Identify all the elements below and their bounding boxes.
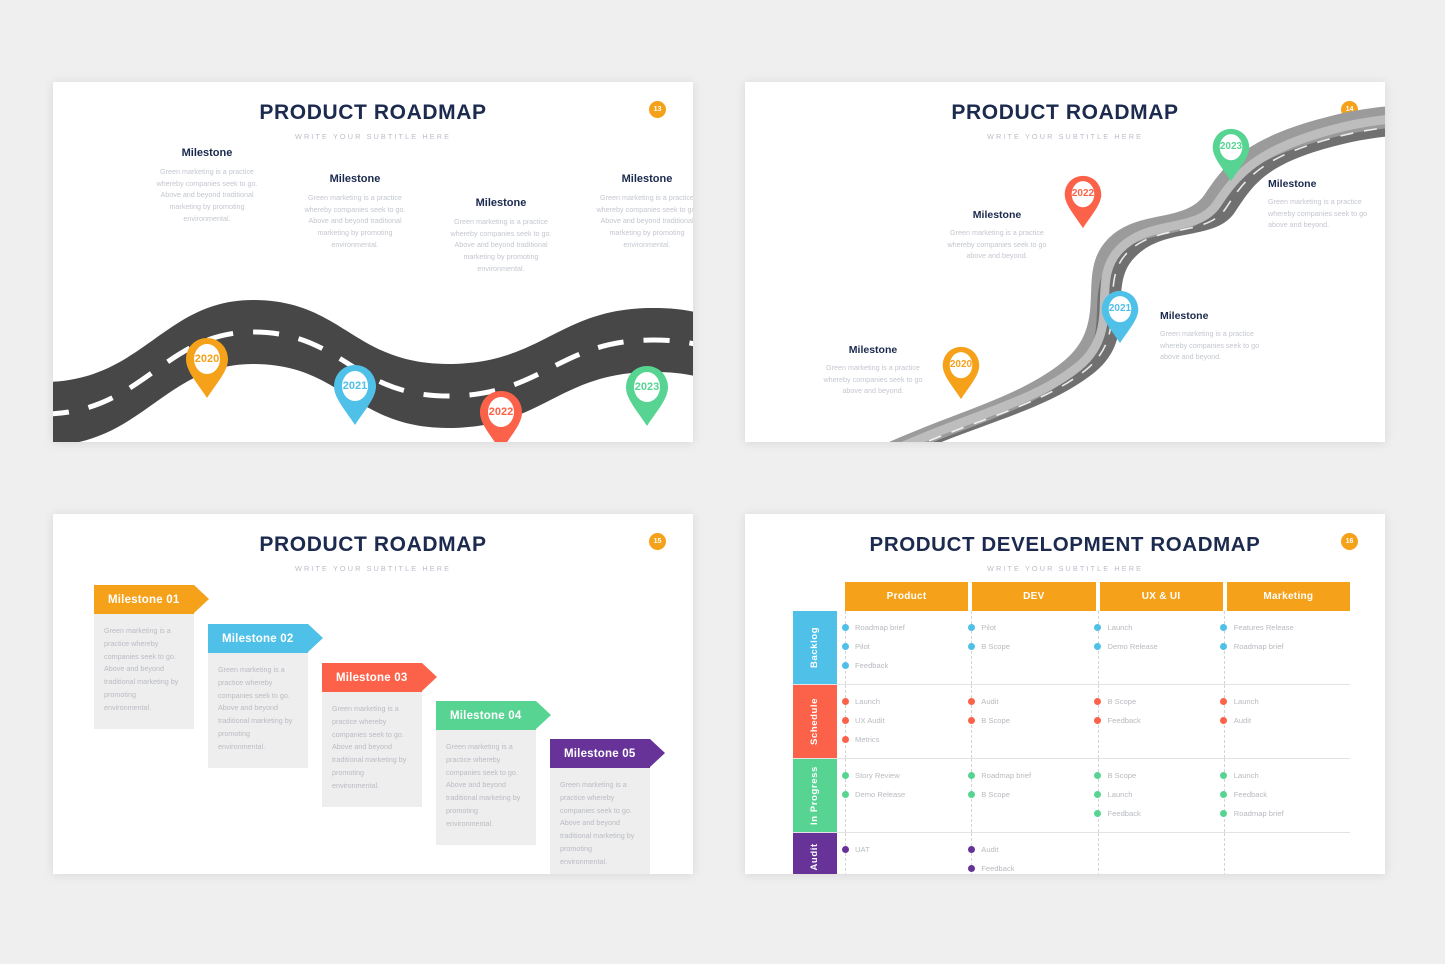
- table-cell: PilotB Scope: [971, 611, 1097, 684]
- milestone-heading: Milestone: [295, 173, 415, 185]
- table-cell: AuditB Scope: [971, 685, 1097, 758]
- table-column-header: Marketing: [1227, 582, 1350, 611]
- table-cell-item[interactable]: Roadmap brief: [1224, 637, 1350, 656]
- page-number-badge: 16: [1341, 533, 1358, 550]
- table-cell-text: Launch: [1108, 790, 1133, 799]
- milestone-body: Green marketing is a practice whereby co…: [441, 216, 561, 274]
- milestone-label: Milestone 01: [108, 594, 179, 606]
- table-cell-text: Features Release: [1234, 623, 1294, 632]
- table-cell-text: Roadmap brief: [981, 771, 1031, 780]
- bullet-dot-icon: [968, 643, 975, 650]
- table-cell-text: B Scope: [981, 716, 1010, 725]
- milestone-heading: Milestone: [587, 173, 693, 185]
- table-cell: LaunchDemo Release: [1098, 611, 1224, 684]
- bullet-dot-icon: [1094, 624, 1101, 631]
- table-cell-item[interactable]: Demo Release: [845, 785, 971, 804]
- milestone-label: Milestone 05: [564, 748, 635, 760]
- table-cell-text: Feedback: [981, 864, 1014, 873]
- bullet-dot-icon: [968, 698, 975, 705]
- table-row: QA / AuditUATAuditFeedbackB Scope: [793, 833, 1350, 874]
- table-cell-item[interactable]: B Scope: [1098, 692, 1224, 711]
- table-cell-text: Audit: [981, 697, 998, 706]
- table-cell: B ScopeLaunchFeedback: [1098, 759, 1224, 832]
- table-cell-text: Launch: [1108, 623, 1133, 632]
- milestone-body: Green marketing is a practice whereby co…: [943, 227, 1051, 262]
- milestone-arrow-label-wrap[interactable]: Milestone 05: [550, 739, 650, 768]
- milestone-heading: Milestone: [1160, 310, 1268, 322]
- table-cell: Features ReleaseRoadmap brief: [1224, 611, 1350, 684]
- bullet-dot-icon: [1094, 698, 1101, 705]
- bullet-dot-icon: [842, 772, 849, 779]
- table-cell-text: Roadmap brief: [1234, 809, 1284, 818]
- table-body: BacklogRoadmap briefPilotFeedbackPilotB …: [793, 611, 1350, 874]
- slide-product-roadmap-winding[interactable]: PRODUCT ROADMAP WRITE YOUR SUBTITLE HERE…: [745, 82, 1385, 442]
- table-cell-text: Audit: [981, 845, 998, 854]
- table-cell-item[interactable]: Feedback: [1098, 804, 1224, 823]
- milestone-body: Green marketing is a practice whereby co…: [322, 692, 422, 807]
- table-cell-item[interactable]: B Scope: [971, 637, 1097, 656]
- slide-product-roadmap-road[interactable]: PRODUCT ROADMAP WRITE YOUR SUBTITLE HERE…: [53, 82, 693, 442]
- milestone-pin-2022[interactable]: 2022: [478, 389, 524, 442]
- table-cell-text: Launch: [1234, 771, 1259, 780]
- milestone-label: Milestone 03: [336, 672, 407, 684]
- table-cell: LaunchFeedbackRoadmap brief: [1224, 759, 1350, 832]
- bullet-dot-icon: [968, 772, 975, 779]
- table-row-label: Backlog: [793, 611, 837, 684]
- table-cell-text: Feedback: [1108, 809, 1141, 818]
- bullet-dot-icon: [1220, 643, 1227, 650]
- bullet-dot-icon: [842, 736, 849, 743]
- table-cell: Story ReviewDemo Release: [845, 759, 971, 832]
- bullet-dot-icon: [968, 624, 975, 631]
- table-cell: Roadmap briefB Scope: [971, 759, 1097, 832]
- table-cell-text: Feedback: [855, 661, 888, 670]
- bullet-dot-icon: [1220, 717, 1227, 724]
- table-cell-text: Story Review: [855, 771, 900, 780]
- table-cell: AuditFeedbackB Scope: [971, 833, 1097, 874]
- table-cell-item[interactable]: Audit: [1224, 711, 1350, 730]
- table-cell-item[interactable]: Launch: [845, 692, 971, 711]
- table-cell-text: B Scope: [1108, 771, 1137, 780]
- table-cell-item[interactable]: Roadmap brief: [971, 766, 1097, 785]
- milestone-arrow-label-wrap[interactable]: Milestone 01: [94, 585, 194, 614]
- pin-year-label: 2022: [478, 406, 524, 418]
- slide-product-development-roadmap[interactable]: PRODUCT DEVELOPMENT ROADMAP WRITE YOUR S…: [745, 514, 1385, 874]
- bullet-dot-icon: [842, 624, 849, 631]
- table-cell-text: Launch: [855, 697, 880, 706]
- pin-year-label: 2021: [1100, 303, 1140, 314]
- milestone-heading: Milestone: [1268, 178, 1376, 190]
- table-cell-text: Roadmap brief: [1234, 642, 1284, 651]
- milestone-step-4[interactable]: Milestone 04 Green marketing is a practi…: [436, 701, 536, 845]
- table-cell-text: B Scope: [1108, 697, 1137, 706]
- roadmap-table: ProductDEVUX & UIMarketing BacklogRoadma…: [793, 582, 1350, 874]
- milestone-text-1: Milestone Green marketing is a practice …: [819, 344, 927, 397]
- bullet-dot-icon: [842, 662, 849, 669]
- table-cell-item[interactable]: Audit: [971, 692, 1097, 711]
- table-cell-text: Demo Release: [855, 790, 905, 799]
- bullet-dot-icon: [1220, 698, 1227, 705]
- table-header-row: ProductDEVUX & UIMarketing: [845, 582, 1350, 611]
- milestone-step-5[interactable]: Milestone 05 Green marketing is a practi…: [550, 739, 650, 874]
- table-cell-text: Pilot: [855, 642, 870, 651]
- table-cell-item[interactable]: B Scope: [1098, 766, 1224, 785]
- table-column-header: UX & UI: [1100, 582, 1223, 611]
- milestone-heading: Milestone: [441, 197, 561, 209]
- table-cell-item[interactable]: Audit: [971, 840, 1097, 859]
- table-cell-item[interactable]: Metrics: [845, 730, 971, 749]
- table-column-header: DEV: [972, 582, 1095, 611]
- pin-year-label: 2021: [332, 380, 378, 392]
- bullet-dot-icon: [842, 643, 849, 650]
- milestone-pin-2021[interactable]: 2021: [332, 363, 378, 432]
- bullet-dot-icon: [1094, 643, 1101, 650]
- milestone-text-2: Milestone Green marketing is a practice …: [295, 173, 415, 250]
- milestone-step-2[interactable]: Milestone 02 Green marketing is a practi…: [208, 624, 308, 768]
- milestone-pin-2020[interactable]: 2020: [184, 336, 230, 405]
- milestone-body: Green marketing is a practice whereby co…: [147, 166, 267, 224]
- table-row: BacklogRoadmap briefPilotFeedbackPilotB …: [793, 611, 1350, 685]
- bullet-dot-icon: [1094, 791, 1101, 798]
- table-cell-item[interactable]: B Scope: [971, 711, 1097, 730]
- bullet-dot-icon: [968, 791, 975, 798]
- milestone-text-2: Milestone Green marketing is a practice …: [1160, 310, 1268, 363]
- bullet-dot-icon: [1220, 624, 1227, 631]
- milestone-text-4: Milestone Green marketing is a practice …: [1268, 178, 1376, 231]
- table-cell-item[interactable]: Pilot: [971, 618, 1097, 637]
- table-cell-text: Launch: [1234, 697, 1259, 706]
- table-cell-item[interactable]: Feedback: [971, 859, 1097, 874]
- table-cell-item[interactable]: Story Review: [845, 766, 971, 785]
- table-cell-item[interactable]: B Scope: [971, 785, 1097, 804]
- table-cell-item[interactable]: Roadmap brief: [845, 618, 971, 637]
- milestone-arrow-label-wrap[interactable]: Milestone 04: [436, 701, 536, 730]
- table-cell-text: UAT: [855, 845, 870, 854]
- table-cell-text: B Scope: [981, 790, 1010, 799]
- table-cell: [1224, 833, 1350, 874]
- bullet-dot-icon: [1220, 810, 1227, 817]
- table-cell-item[interactable]: Demo Release: [1098, 637, 1224, 656]
- milestone-text-3: Milestone Green marketing is a practice …: [441, 197, 561, 274]
- milestone-text-1: Milestone Green marketing is a practice …: [147, 147, 267, 224]
- milestone-body: Green marketing is a practice whereby co…: [819, 362, 927, 397]
- table-cell-item[interactable]: Launch: [1098, 618, 1224, 637]
- milestone-label: Milestone 04: [450, 710, 521, 722]
- table-row: ScheduleLaunchUX AuditMetricsAuditB Scop…: [793, 685, 1350, 759]
- table-row-label: In Progress: [793, 759, 837, 832]
- milestone-pin-2023[interactable]: 2023: [624, 364, 670, 433]
- table-cell-text: UX Audit: [855, 716, 885, 725]
- milestone-step-1[interactable]: Milestone 01 Green marketing is a practi…: [94, 585, 194, 729]
- milestone-body: Green marketing is a practice whereby co…: [1268, 196, 1376, 231]
- table-column-header: Product: [845, 582, 968, 611]
- milestone-heading: Milestone: [943, 209, 1051, 221]
- milestone-body: Green marketing is a practice whereby co…: [436, 730, 536, 845]
- milestone-body: Green marketing is a practice whereby co…: [550, 768, 650, 874]
- table-cell-item[interactable]: Roadmap brief: [1224, 804, 1350, 823]
- slide-product-roadmap-arrows[interactable]: PRODUCT ROADMAP WRITE YOUR SUBTITLE HERE…: [53, 514, 693, 874]
- pin-year-label: 2023: [624, 381, 670, 393]
- table-cell-item[interactable]: Pilot: [845, 637, 971, 656]
- milestone-pin-2020[interactable]: 2020: [941, 345, 981, 406]
- table-cell-text: Pilot: [981, 623, 996, 632]
- milestone-body: Green marketing is a practice whereby co…: [94, 614, 194, 729]
- milestone-arrow-label-wrap[interactable]: Milestone 02: [208, 624, 308, 653]
- bullet-dot-icon: [968, 846, 975, 853]
- table-cell: LaunchUX AuditMetrics: [845, 685, 971, 758]
- table-cell: Roadmap briefPilotFeedback: [845, 611, 971, 684]
- table-cell-text: B Scope: [981, 642, 1010, 651]
- page-title: PRODUCT ROADMAP: [53, 533, 693, 557]
- table-cell: LaunchAudit: [1224, 685, 1350, 758]
- page-number-badge: 15: [649, 533, 666, 550]
- table-cell-text: Demo Release: [1108, 642, 1158, 651]
- bullet-dot-icon: [842, 791, 849, 798]
- pin-year-label: 2020: [184, 353, 230, 365]
- milestone-body: Green marketing is a practice whereby co…: [1160, 328, 1268, 363]
- milestone-text-3: Milestone Green marketing is a practice …: [943, 209, 1051, 262]
- bullet-dot-icon: [1220, 791, 1227, 798]
- milestone-pin-2021[interactable]: 2021: [1100, 289, 1140, 350]
- table-cell-item[interactable]: Launch: [1224, 766, 1350, 785]
- milestone-arrow-label-wrap[interactable]: Milestone 03: [322, 663, 422, 692]
- table-cell-item[interactable]: UAT: [845, 840, 971, 859]
- pin-year-label: 2020: [941, 359, 981, 370]
- table-cell-text: Feedback: [1234, 790, 1267, 799]
- table-cell-item[interactable]: Feedback: [845, 656, 971, 675]
- bullet-dot-icon: [1220, 772, 1227, 779]
- table-cell-text: Feedback: [1108, 716, 1141, 725]
- milestone-label: Milestone 02: [222, 633, 293, 645]
- table-cell-item[interactable]: Launch: [1224, 692, 1350, 711]
- milestone-body: Green marketing is a practice whereby co…: [295, 192, 415, 250]
- table-cell-text: Audit: [1234, 716, 1251, 725]
- pin-year-label: 2023: [1211, 141, 1251, 152]
- table-cell: UAT: [845, 833, 971, 874]
- milestone-body: Green marketing is a practice whereby co…: [208, 653, 308, 768]
- bullet-dot-icon: [1094, 810, 1101, 817]
- table-cell: [1098, 833, 1224, 874]
- bullet-dot-icon: [968, 865, 975, 872]
- table-cell-item[interactable]: Feedback: [1098, 711, 1224, 730]
- table-cell: B ScopeFeedback: [1098, 685, 1224, 758]
- table-row-label: QA / Audit: [793, 833, 837, 874]
- bullet-dot-icon: [842, 717, 849, 724]
- page-subtitle: WRITE YOUR SUBTITLE HERE: [745, 564, 1385, 573]
- milestone-heading: Milestone: [819, 344, 927, 356]
- table-row: In ProgressStory ReviewDemo ReleaseRoadm…: [793, 759, 1350, 833]
- page-subtitle: WRITE YOUR SUBTITLE HERE: [53, 564, 693, 573]
- milestone-pin-2023[interactable]: 2023: [1211, 127, 1251, 188]
- table-row-label: Schedule: [793, 685, 837, 758]
- milestone-body: Green marketing is a practice whereby co…: [587, 192, 693, 250]
- bullet-dot-icon: [1094, 717, 1101, 724]
- table-cell-item[interactable]: Launch: [1098, 785, 1224, 804]
- milestone-text-4: Milestone Green marketing is a practice …: [587, 173, 693, 250]
- milestone-heading: Milestone: [147, 147, 267, 159]
- milestone-step-3[interactable]: Milestone 03 Green marketing is a practi…: [322, 663, 422, 807]
- bullet-dot-icon: [842, 846, 849, 853]
- page-title: PRODUCT DEVELOPMENT ROADMAP: [745, 533, 1385, 557]
- table-cell-text: Metrics: [855, 735, 879, 744]
- pin-year-label: 2022: [1063, 188, 1103, 199]
- bullet-dot-icon: [1094, 772, 1101, 779]
- table-cell-item[interactable]: Feedback: [1224, 785, 1350, 804]
- bullet-dot-icon: [968, 717, 975, 724]
- table-cell-item[interactable]: Features Release: [1224, 618, 1350, 637]
- table-cell-text: Roadmap brief: [855, 623, 905, 632]
- milestone-pin-2022[interactable]: 2022: [1063, 174, 1103, 235]
- table-cell-item[interactable]: UX Audit: [845, 711, 971, 730]
- bullet-dot-icon: [842, 698, 849, 705]
